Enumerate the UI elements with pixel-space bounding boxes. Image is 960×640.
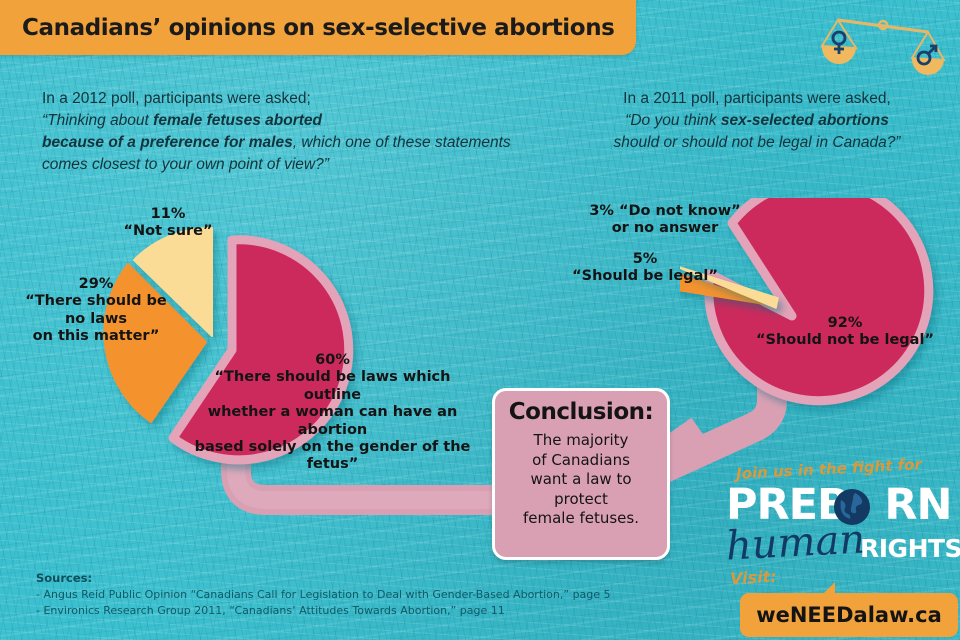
label-no-laws: 29% “There should be no laws on this mat… <box>20 276 172 346</box>
q2012-bold2: because of a preference for males <box>42 134 293 151</box>
question-2012-intro: In a 2012 poll, participants were asked; <box>42 88 512 110</box>
sources-item-1: - Angus Reid Public Opinion “Canadians C… <box>36 587 611 603</box>
label-should-not-be-legal: 92% “Should not be legal” <box>750 315 940 350</box>
label-laws-l3: based solely on the gender of the fetus” <box>190 439 475 474</box>
logo-brand-human: human <box>725 516 866 569</box>
label-laws-pct: 60% <box>190 352 475 369</box>
label-dontknow-l1: 3% “Do not know” <box>580 203 750 220</box>
conclusion-box: Conclusion: The majority of Canadians wa… <box>492 388 670 560</box>
logo-tagline: Join us in the fight for <box>736 455 923 483</box>
conclusion-line-3: want a law to <box>523 470 639 490</box>
q2012-open: “Thinking about <box>42 112 153 129</box>
question-2012: In a 2012 poll, participants were asked;… <box>42 88 512 176</box>
label-not-sure: 11% “Not sure” <box>108 206 228 241</box>
label-notlegal-pct: 92% <box>750 315 940 332</box>
logo-url-bubble[interactable]: weNEEDalaw.ca <box>740 593 958 637</box>
label-laws-l1: “There should be laws which outline <box>190 369 475 404</box>
label-should-be-laws: 60% “There should be laws which outline … <box>190 352 475 474</box>
preborn-human-rights-logo[interactable]: Join us in the fight for PREBORN human R… <box>718 458 958 638</box>
label-not-sure-text: “Not sure” <box>123 223 212 239</box>
label-no-laws-l3: on this matter” <box>20 328 172 345</box>
label-laws-l2: whether a woman can have an abortion <box>190 404 475 439</box>
logo-url: weNEEDalaw.ca <box>756 603 942 627</box>
logo-visit-label: Visit: <box>730 567 778 588</box>
logo-brand-part2: RN <box>884 480 951 530</box>
q2012-bold1: female fetuses aborted <box>153 112 322 129</box>
label-no-laws-pct: 29% <box>20 276 172 293</box>
label-no-laws-l1: “There should be <box>20 293 172 310</box>
sources-item-2: - Environics Research Group 2011, “Canad… <box>36 603 611 619</box>
label-do-not-know: 3% “Do not know” or no answer <box>580 203 750 238</box>
balance-scales-gender-icon <box>816 2 946 80</box>
conclusion-body: The majority of Canadians want a law to … <box>523 431 639 529</box>
label-notlegal-text: “Should not be legal” <box>756 332 934 348</box>
sources: Sources: - Angus Reid Public Opinion “Ca… <box>36 570 611 619</box>
label-dontknow-l2: or no answer <box>580 220 750 237</box>
q2011-open: “Do you think <box>625 112 721 129</box>
conclusion-heading: Conclusion: <box>509 399 653 425</box>
label-no-laws-l2: no laws <box>20 311 172 328</box>
conclusion-line-2: of Canadians <box>523 451 639 471</box>
logo-brand-rights: RIGHTS <box>860 534 960 563</box>
question-2011-quote: “Do you think sex-selected abortions sho… <box>572 110 942 154</box>
question-2012-quote: “Thinking about female fetuses aborted b… <box>42 110 512 176</box>
conclusion-line-1: The majority <box>523 431 639 451</box>
label-legal-pct: 5% <box>560 251 730 268</box>
conclusion-line-5: female fetuses. <box>523 509 639 529</box>
page-title-bar: Canadians’ opinions on sex-selective abo… <box>0 0 636 55</box>
sources-heading: Sources: <box>36 570 611 587</box>
conclusion-line-4: protect <box>523 490 639 510</box>
label-not-sure-pct: 11% <box>108 206 228 223</box>
question-2011-intro: In a 2011 poll, participants were asked, <box>572 88 942 110</box>
infographic-canvas: Canadians’ opinions on sex-selective abo… <box>0 0 960 640</box>
label-should-be-legal: 5% “Should be legal” <box>560 251 730 286</box>
q2011-tail: should or should not be legal in Canada?… <box>614 134 901 151</box>
label-legal-text: “Should be legal” <box>572 268 718 284</box>
question-2011: In a 2011 poll, participants were asked,… <box>572 88 942 154</box>
page-title: Canadians’ opinions on sex-selective abo… <box>22 15 614 41</box>
q2011-bold: sex-selected abortions <box>721 112 889 129</box>
